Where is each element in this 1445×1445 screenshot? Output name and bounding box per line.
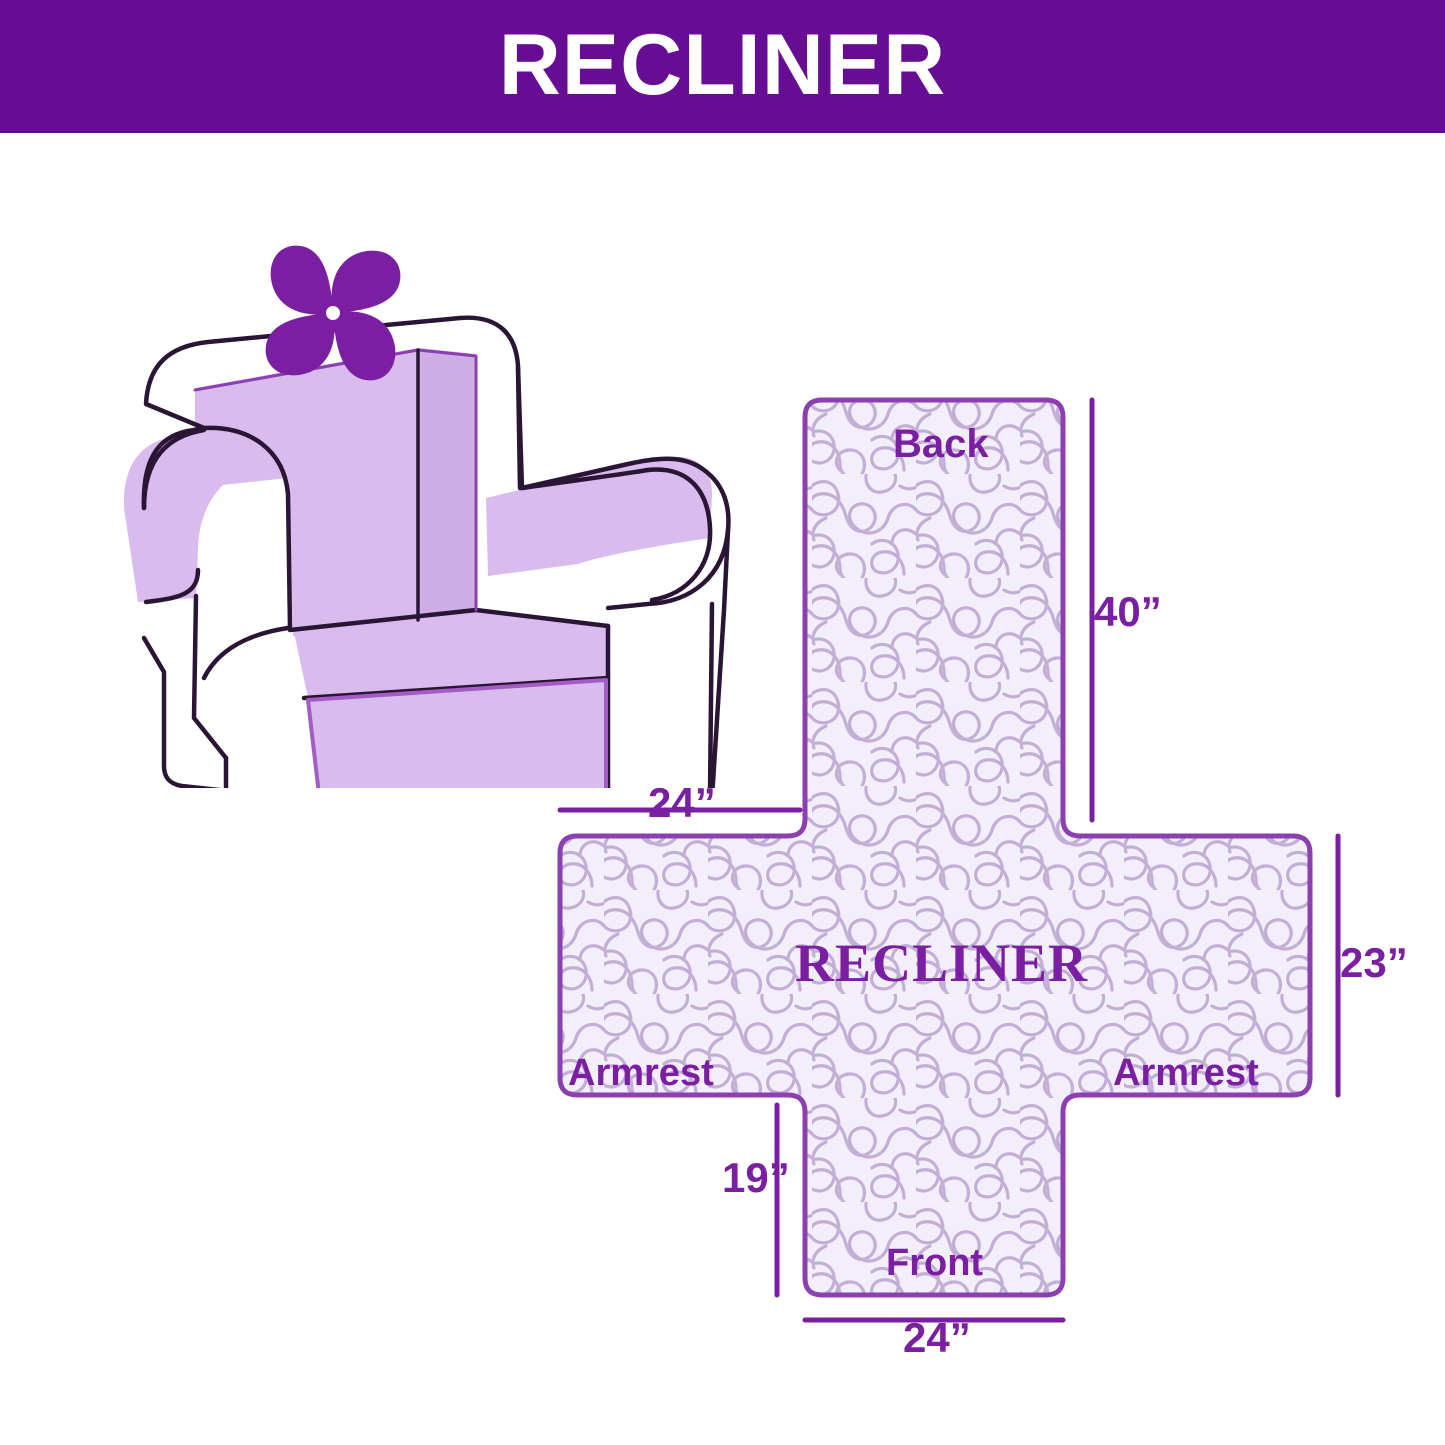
dimension-label-front-height: 19” [722,1157,790,1199]
page-title: RECLINER [499,22,947,112]
panel-label-armrest-right: Armrest [1113,1054,1259,1092]
panel-label-front: Front [886,1244,983,1282]
dimension-label-back-height: 40” [1094,591,1162,633]
product-size-diagram: RECLINER [0,0,1445,1445]
panel-label-center: RECLINER [795,936,1088,990]
dimension-label-front-width: 24” [903,1317,971,1359]
slipcover-cross-panel [560,400,1310,1295]
panel-label-back: Back [893,424,989,464]
header-banner: RECLINER [0,0,1445,133]
dimension-label-armrest-width: 24” [648,782,716,824]
panel-label-armrest-left: Armrest [568,1054,714,1092]
dimension-label-armrest-height: 23” [1340,942,1408,984]
